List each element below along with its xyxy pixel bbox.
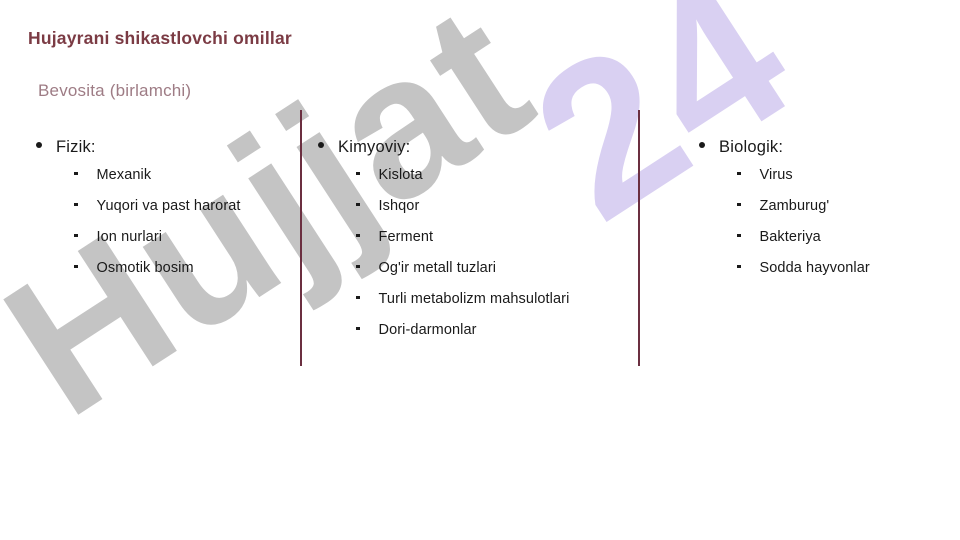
bullet-square-icon [74, 265, 78, 269]
bullet-square-icon [356, 265, 360, 269]
bullet-square-icon [356, 327, 360, 331]
list-item-label: Yuqori va past harorat [97, 198, 241, 214]
list-item-label: Kislota [379, 167, 423, 183]
bullet-dot-icon [36, 142, 42, 148]
column-heading-kimyoviy: Kimyoviy: [318, 138, 628, 157]
list-item: Zamburug' [737, 198, 949, 229]
list-item: Sodda hayvonlar [737, 260, 949, 291]
list-item-label: Bakteriya [760, 229, 821, 245]
list-item: Dori-darmonlar [356, 322, 628, 353]
column-heading-label: Biologik: [719, 138, 783, 157]
list-item-label: Turli metabolizm mahsulotlari [379, 291, 570, 307]
page-title: Hujayrani shikastlovchi omillar [28, 28, 292, 49]
column-kimyoviy: Kimyoviy: Kislota Ishqor Ferment Og'ir [318, 138, 628, 353]
list-item-label: Dori-darmonlar [379, 322, 477, 338]
list-item: Ferment [356, 229, 628, 260]
bullet-square-icon [356, 172, 360, 176]
column-heading-fizik: Fizik: [36, 138, 286, 157]
list-item: Bakteriya [737, 229, 949, 260]
bullet-square-icon [356, 203, 360, 207]
list-item-label: Virus [760, 167, 793, 183]
list-item-label: Osmotik bosim [97, 260, 194, 276]
list-item: Kislota [356, 167, 628, 198]
list-item-label: Zamburug' [760, 198, 830, 214]
bullet-square-icon [737, 203, 741, 207]
column-divider-right [638, 110, 640, 366]
list-item-label: Ion nurlari [97, 229, 163, 245]
bullet-dot-icon [699, 142, 705, 148]
column-heading-label: Kimyoviy: [338, 138, 410, 157]
column-item-list-biologik: Virus Zamburug' Bakteriya Sodda hayvonla… [737, 167, 949, 291]
list-item-label: Ishqor [379, 198, 420, 214]
column-divider-left [300, 110, 302, 366]
list-item: Virus [737, 167, 949, 198]
bullet-square-icon [74, 203, 78, 207]
list-item-label: Ferment [379, 229, 434, 245]
page-subtitle: Bevosita (birlamchi) [38, 81, 191, 101]
bullet-square-icon [356, 296, 360, 300]
list-item: Ishqor [356, 198, 628, 229]
list-item: Mexanik [74, 167, 286, 198]
list-item: Osmotik bosim [74, 260, 286, 291]
bullet-square-icon [74, 172, 78, 176]
bullet-square-icon [356, 234, 360, 238]
column-item-list-kimyoviy: Kislota Ishqor Ferment Og'ir metall tuzl… [356, 167, 628, 353]
content-layer: Hujayrani shikastlovchi omillar Bevosita… [0, 0, 960, 540]
list-item: Og'ir metall tuzlari [356, 260, 628, 291]
bullet-square-icon [74, 234, 78, 238]
column-heading-biologik: Biologik: [699, 138, 949, 157]
bullet-dot-icon [318, 142, 324, 148]
list-item-label: Sodda hayvonlar [760, 260, 870, 276]
list-item: Yuqori va past harorat [74, 198, 286, 229]
column-item-list-fizik: Mexanik Yuqori va past harorat Ion nurla… [74, 167, 286, 291]
list-item: Turli metabolizm mahsulotlari [356, 291, 628, 322]
list-item-label: Og'ir metall tuzlari [379, 260, 497, 276]
column-heading-label: Fizik: [56, 138, 96, 157]
list-item: Ion nurlari [74, 229, 286, 260]
list-item-label: Mexanik [97, 167, 152, 183]
column-biologik: Biologik: Virus Zamburug' Bakteriya Sod [699, 138, 949, 291]
bullet-square-icon [737, 172, 741, 176]
column-fizik: Fizik: Mexanik Yuqori va past harorat Io… [36, 138, 286, 291]
slide-canvas: Hujjat 24 Hujayrani shikastlovchi omilla… [0, 0, 960, 540]
bullet-square-icon [737, 265, 741, 269]
bullet-square-icon [737, 234, 741, 238]
